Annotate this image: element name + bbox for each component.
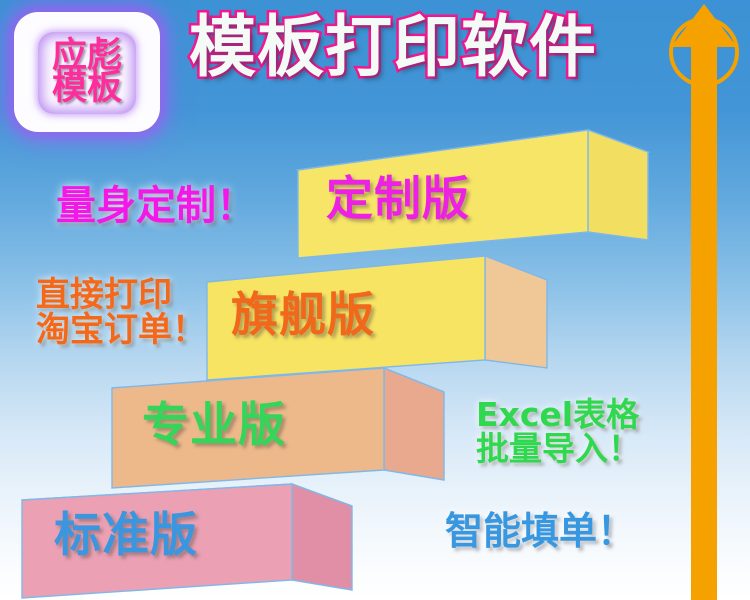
- page-title: 模板打印软件: [189, 14, 597, 81]
- brand-badge-text: 应彪 模板: [14, 12, 160, 132]
- callout-tailor-made: 量身定制！: [56, 186, 256, 228]
- step-side-face: [588, 130, 648, 240]
- callout-excel-import: Excel表格 批量导入！: [476, 398, 641, 467]
- step-block-custom[interactable]: 定制版: [298, 128, 648, 288]
- step-label-standard: 标准版: [54, 512, 198, 559]
- step-label-flagship: 旗舰版: [231, 292, 375, 339]
- brand-line-2: 模板: [52, 72, 122, 104]
- up-arrow-icon: [657, 0, 750, 600]
- callout-excel-line1: Excel表格: [476, 398, 641, 432]
- callout-taobao-print: 直接打印 淘宝订单！: [36, 278, 206, 349]
- promo-poster: 标准版 专业版 旗舰版 定制版 量身定制！ 直接打印 淘宝订单！: [0, 0, 750, 600]
- step-label-custom: 定制版: [326, 176, 470, 223]
- callout-excel-line2: 批量导入！: [476, 432, 641, 466]
- callout-smart-fill: 智能填单！: [445, 512, 635, 552]
- callout-taobao-line2: 淘宝订单！: [36, 313, 206, 348]
- step-label-professional: 专业版: [142, 402, 286, 449]
- brand-badge[interactable]: 应彪 模板: [14, 12, 160, 132]
- callout-taobao-line1: 直接打印: [36, 278, 206, 313]
